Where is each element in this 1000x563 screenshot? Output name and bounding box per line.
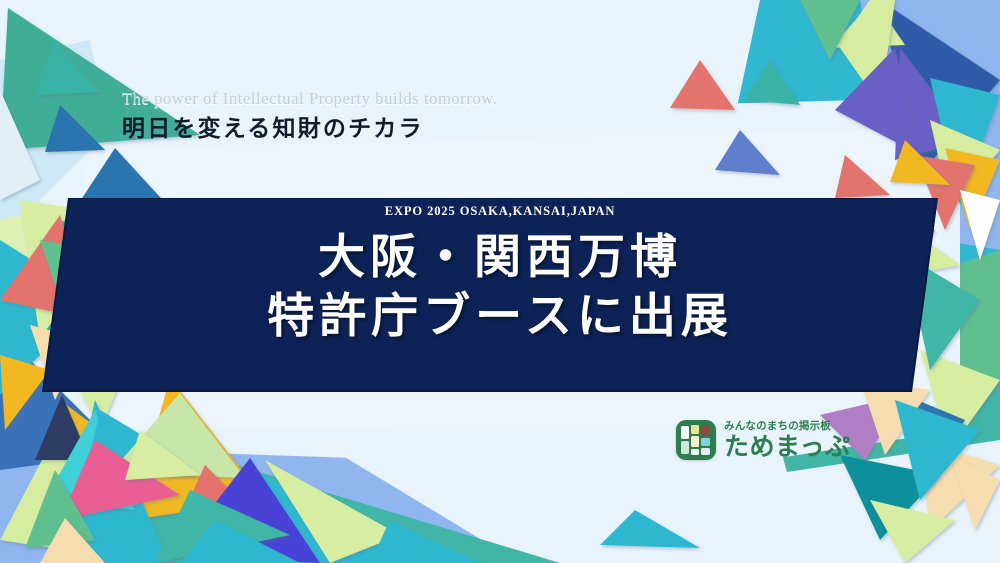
logo-tile-7 [701, 448, 710, 455]
tamemap-tile-board-icon [676, 420, 716, 460]
logo-tile-3 [681, 441, 689, 454]
logo-tile-5 [701, 438, 710, 446]
logo-text-block: みんなのまちの掲示板 ためまっぷ [724, 421, 851, 460]
tamemap-logo[interactable]: みんなのまちの掲示板 ためまっぷ [676, 420, 851, 460]
logo-tile-1 [691, 425, 699, 434]
logo-tile-2 [701, 425, 710, 436]
poster-canvas: The power of Intellectual Property build… [0, 0, 1000, 563]
tagline-japanese: 明日を変える知財のチカラ [122, 114, 497, 144]
logo-subtitle: みんなのまちの掲示板 [724, 421, 851, 432]
logo-name: ためまっぷ [724, 434, 851, 459]
tagline-english: The power of Intellectual Property build… [122, 88, 497, 110]
banner-text-block: EXPO 2025 OSAKA,KANSAI,JAPAN 大阪・関西万博 特許庁… [0, 204, 1000, 346]
logo-tile-0 [681, 426, 689, 439]
banner-headline: 大阪・関西万博 特許庁ブースに出展 [0, 229, 1000, 346]
logo-tile-4 [691, 436, 699, 447]
banner-kicker: EXPO 2025 OSAKA,KANSAI,JAPAN [0, 204, 1000, 219]
tagline-block: The power of Intellectual Property build… [122, 88, 497, 144]
logo-tile-6 [691, 449, 699, 455]
banner-headline-line1: 大阪・関西万博 [318, 230, 682, 285]
banner-headline-line2: 特許庁ブースに出展 [0, 288, 1000, 345]
